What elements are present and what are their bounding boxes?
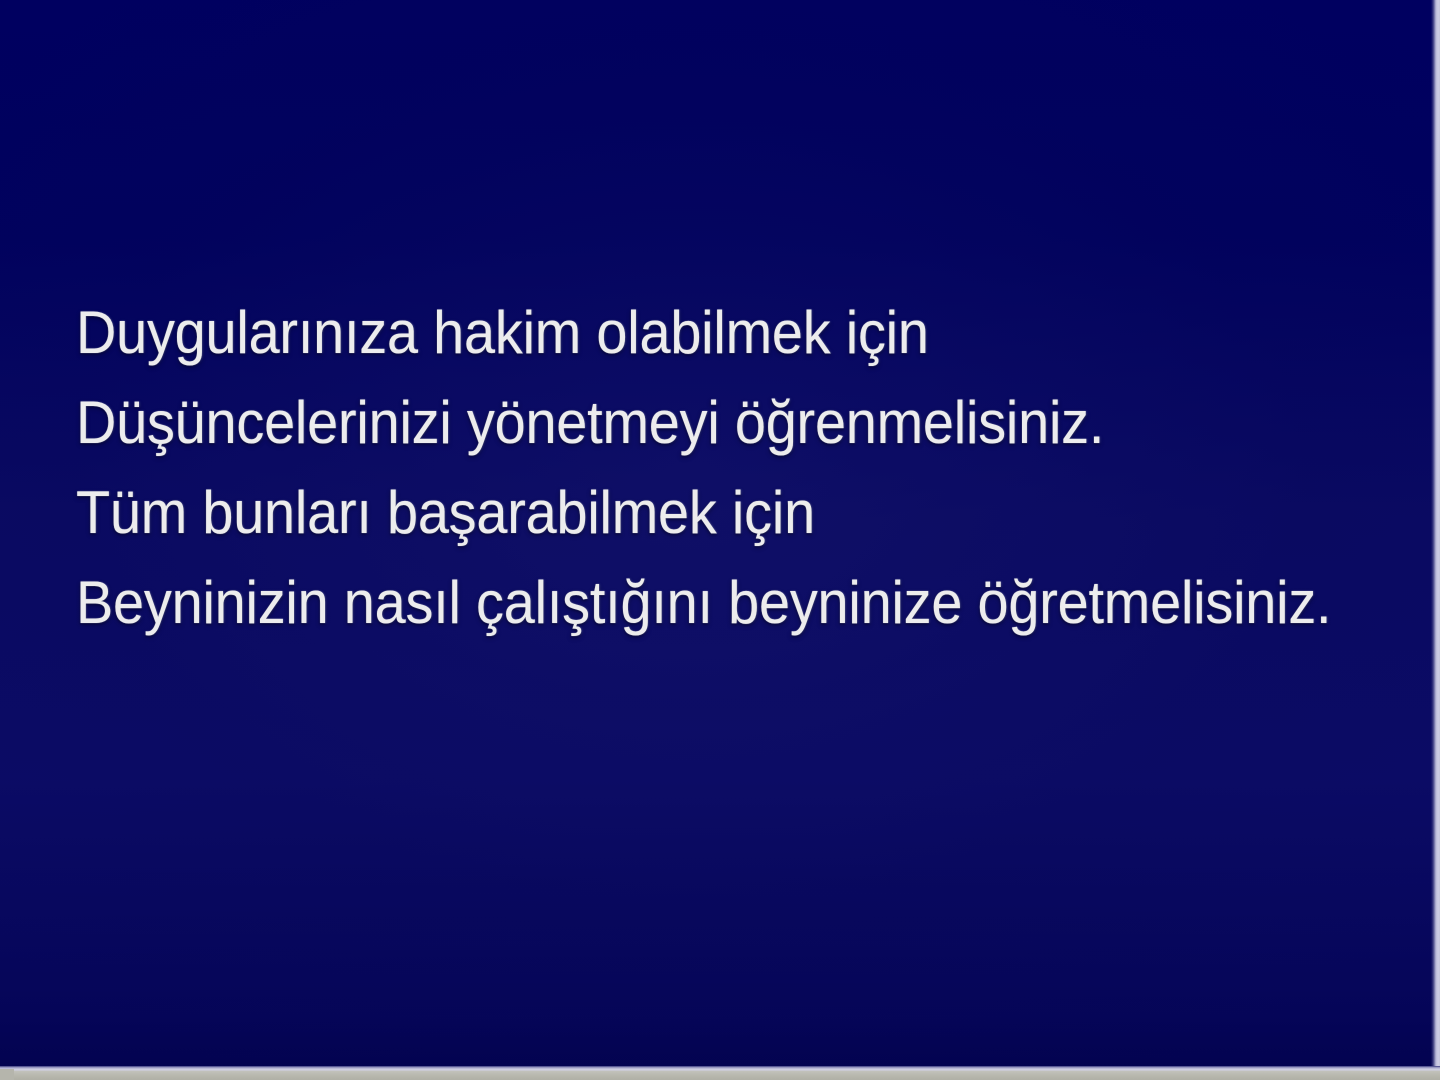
frame-bottom-bar xyxy=(0,1071,1440,1080)
subtitle-line-3: Tüm bunları başarabilmek için xyxy=(76,468,1304,558)
subtitle-line-1: Duygularınıza hakim olabilmek için xyxy=(76,288,1304,378)
subtitle-line-2: Düşüncelerinizi yönetmeyi öğrenmelisiniz… xyxy=(76,378,1304,468)
frame-right-edge-strip xyxy=(1431,0,1440,1069)
frame-bottom-highlight-line xyxy=(0,1066,1440,1071)
subtitle-line-4: Beyninizin nasıl çalıştığını beyninize ö… xyxy=(76,558,1304,648)
subtitle-text-block: Duygularınıza hakim olabilmek için Düşün… xyxy=(76,288,1396,648)
video-slide-frame: Duygularınıza hakim olabilmek için Düşün… xyxy=(0,0,1440,1080)
frame-bottom-left-corner xyxy=(0,1069,14,1080)
